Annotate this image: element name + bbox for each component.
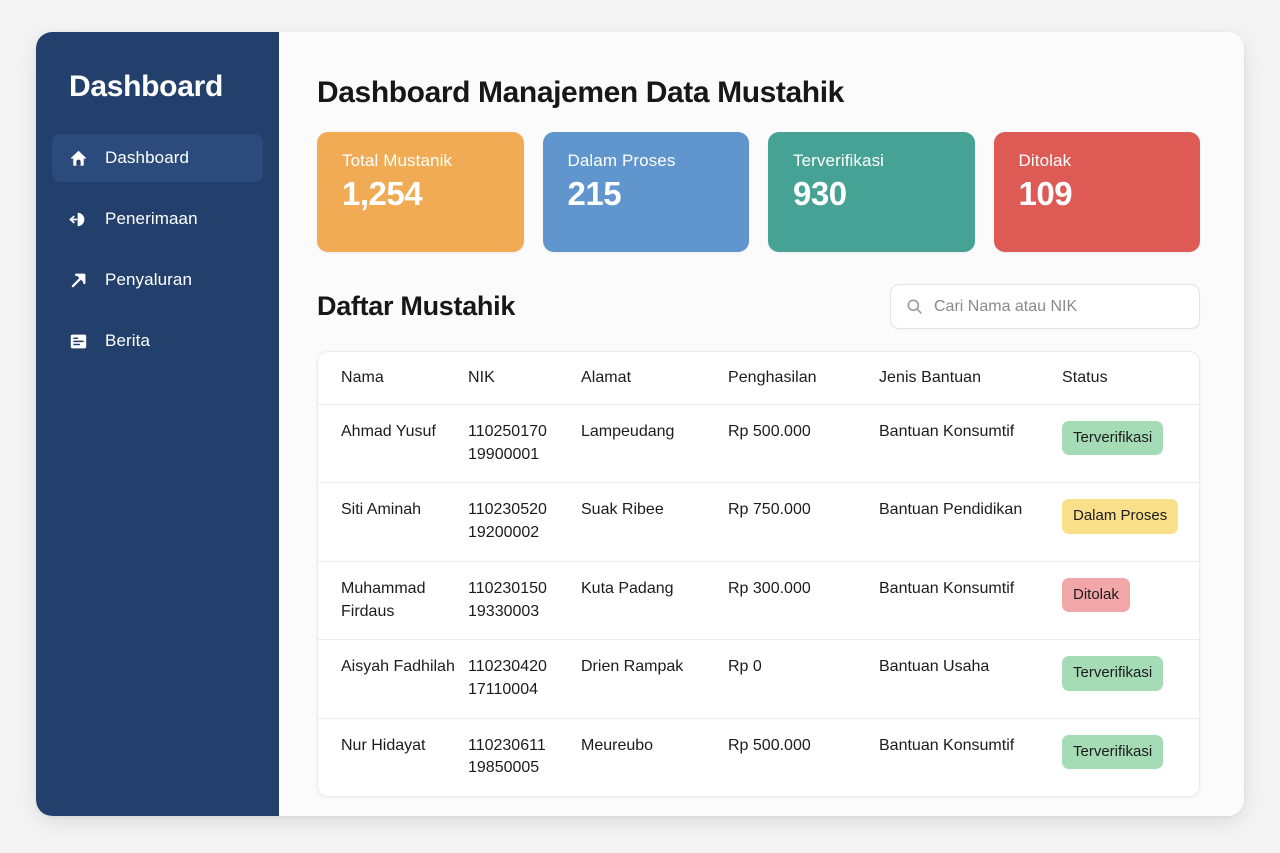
table-body: Ahmad Yusuf11025017019900001LampeudangRp… — [318, 405, 1200, 797]
cell-penghasilan: Rp 300.000 — [728, 561, 879, 639]
page-title: Dashboard Manajemen Data Mustahik — [317, 76, 1200, 110]
list-header: Daftar Mustahik — [317, 284, 1200, 329]
status-badge: Ditolak — [1062, 578, 1130, 612]
cell-alamat: Lampeudang — [581, 405, 728, 483]
sidebar-item-berita[interactable]: Berita — [52, 317, 263, 365]
stat-card-total-mustanik[interactable]: Total Mustanik1,254 — [317, 132, 524, 252]
cell-nik: 11023015019330003 — [468, 561, 581, 639]
status-badge: Terverifikasi — [1062, 656, 1163, 690]
cell-status: Dalam Proses — [1062, 483, 1200, 561]
sidebar-item-label: Penerimaan — [105, 209, 198, 229]
cell-status: Terverifikasi — [1062, 640, 1200, 718]
column-header-nama[interactable]: Nama — [318, 352, 468, 405]
column-header-status[interactable]: Status — [1062, 352, 1200, 405]
section-title: Daftar Mustahik — [317, 291, 515, 322]
cell-nik: 11023061119850005 — [468, 718, 581, 796]
cell-penghasilan: Rp 0 — [728, 640, 879, 718]
column-header-alamat[interactable]: Alamat — [581, 352, 728, 405]
stat-card-terverifikasi[interactable]: Terverifikasi930 — [768, 132, 975, 252]
table-header-row: NamaNIKAlamatPenghasilanJenis BantuanSta… — [318, 352, 1200, 405]
table-row[interactable]: Siti Aminah11023052019200002Suak RibeeRp… — [318, 483, 1200, 561]
mustahik-table: NamaNIKAlamatPenghasilanJenis BantuanSta… — [318, 352, 1200, 796]
stat-card-dalam-proses[interactable]: Dalam Proses215 — [543, 132, 750, 252]
cell-nik: 11025017019900001 — [468, 405, 581, 483]
sidebar-item-label: Berita — [105, 331, 150, 351]
sidebar: Dashboard DashboardPenerimaanPenyaluranB… — [36, 32, 279, 816]
cell-alamat: Kuta Padang — [581, 561, 728, 639]
sidebar-brand-title: Dashboard — [36, 70, 279, 104]
cell-nama: Aisyah Fadhilah — [318, 640, 468, 718]
cell-nik: 11023052019200002 — [468, 483, 581, 561]
cell-nik: 11023042017110004 — [468, 640, 581, 718]
stat-card-label: Dalam Proses — [568, 151, 728, 171]
home-icon — [68, 148, 89, 169]
search-icon — [906, 298, 923, 315]
table-row[interactable]: Ahmad Yusuf11025017019900001LampeudangRp… — [318, 405, 1200, 483]
status-badge: Terverifikasi — [1062, 735, 1163, 769]
table-head: NamaNIKAlamatPenghasilanJenis BantuanSta… — [318, 352, 1200, 405]
column-header-nik[interactable]: NIK — [468, 352, 581, 405]
search-box[interactable] — [890, 284, 1200, 329]
sidebar-item-dashboard[interactable]: Dashboard — [52, 134, 263, 182]
cell-jenis-bantuan: Bantuan Pendidikan — [879, 483, 1062, 561]
cell-penghasilan: Rp 500.000 — [728, 718, 879, 796]
stat-card-value: 109 — [1019, 175, 1179, 213]
column-header-penghasilan[interactable]: Penghasilan — [728, 352, 879, 405]
sidebar-item-penerimaan[interactable]: Penerimaan — [52, 195, 263, 243]
table-row[interactable]: Nur Hidayat11023061119850005MeureuboRp 5… — [318, 718, 1200, 796]
cell-penghasilan: Rp 750.000 — [728, 483, 879, 561]
table-row[interactable]: Muhammad Firdaus11023015019330003Kuta Pa… — [318, 561, 1200, 639]
cell-alamat: Meureubo — [581, 718, 728, 796]
cell-nama: Muhammad Firdaus — [318, 561, 468, 639]
cell-nama: Siti Aminah — [318, 483, 468, 561]
cell-alamat: Drien Rampak — [581, 640, 728, 718]
status-badge: Terverifikasi — [1062, 421, 1163, 455]
search-input[interactable] — [934, 298, 1184, 316]
cell-jenis-bantuan: Bantuan Konsumtif — [879, 405, 1062, 483]
sidebar-item-label: Dashboard — [105, 148, 189, 168]
inbox-arrow-icon — [68, 209, 89, 230]
cell-jenis-bantuan: Bantuan Konsumtif — [879, 561, 1062, 639]
sidebar-nav: DashboardPenerimaanPenyaluranBerita — [36, 134, 279, 365]
cell-jenis-bantuan: Bantuan Konsumtif — [879, 718, 1062, 796]
cell-nama: Ahmad Yusuf — [318, 405, 468, 483]
stat-card-label: Total Mustanik — [342, 151, 502, 171]
stat-card-label: Ditolak — [1019, 151, 1179, 171]
stat-card-label: Terverifikasi — [793, 151, 953, 171]
stat-card-ditolak[interactable]: Ditolak109 — [994, 132, 1201, 252]
status-badge: Dalam Proses — [1062, 499, 1178, 533]
cell-status: Terverifikasi — [1062, 405, 1200, 483]
cell-jenis-bantuan: Bantuan Usaha — [879, 640, 1062, 718]
news-document-icon — [68, 331, 89, 352]
cell-status: Terverifikasi — [1062, 718, 1200, 796]
stat-card-value: 930 — [793, 175, 953, 213]
app-window: Dashboard DashboardPenerimaanPenyaluranB… — [36, 32, 1244, 816]
cell-penghasilan: Rp 500.000 — [728, 405, 879, 483]
mustahik-table-card: NamaNIKAlamatPenghasilanJenis BantuanSta… — [317, 351, 1200, 797]
sidebar-item-label: Penyaluran — [105, 270, 192, 290]
cell-nama: Nur Hidayat — [318, 718, 468, 796]
cell-status: Ditolak — [1062, 561, 1200, 639]
cell-alamat: Suak Ribee — [581, 483, 728, 561]
stats-row: Total Mustanik1,254Dalam Proses215Terver… — [317, 132, 1200, 252]
table-row[interactable]: Aisyah Fadhilah11023042017110004Drien Ra… — [318, 640, 1200, 718]
sidebar-item-penyaluran[interactable]: Penyaluran — [52, 256, 263, 304]
column-header-jenis-bantuan[interactable]: Jenis Bantuan — [879, 352, 1062, 405]
stat-card-value: 215 — [568, 175, 728, 213]
main-content: Dashboard Manajemen Data Mustahik Total … — [279, 32, 1244, 816]
arrow-up-right-icon — [68, 270, 89, 291]
stat-card-value: 1,254 — [342, 175, 502, 213]
